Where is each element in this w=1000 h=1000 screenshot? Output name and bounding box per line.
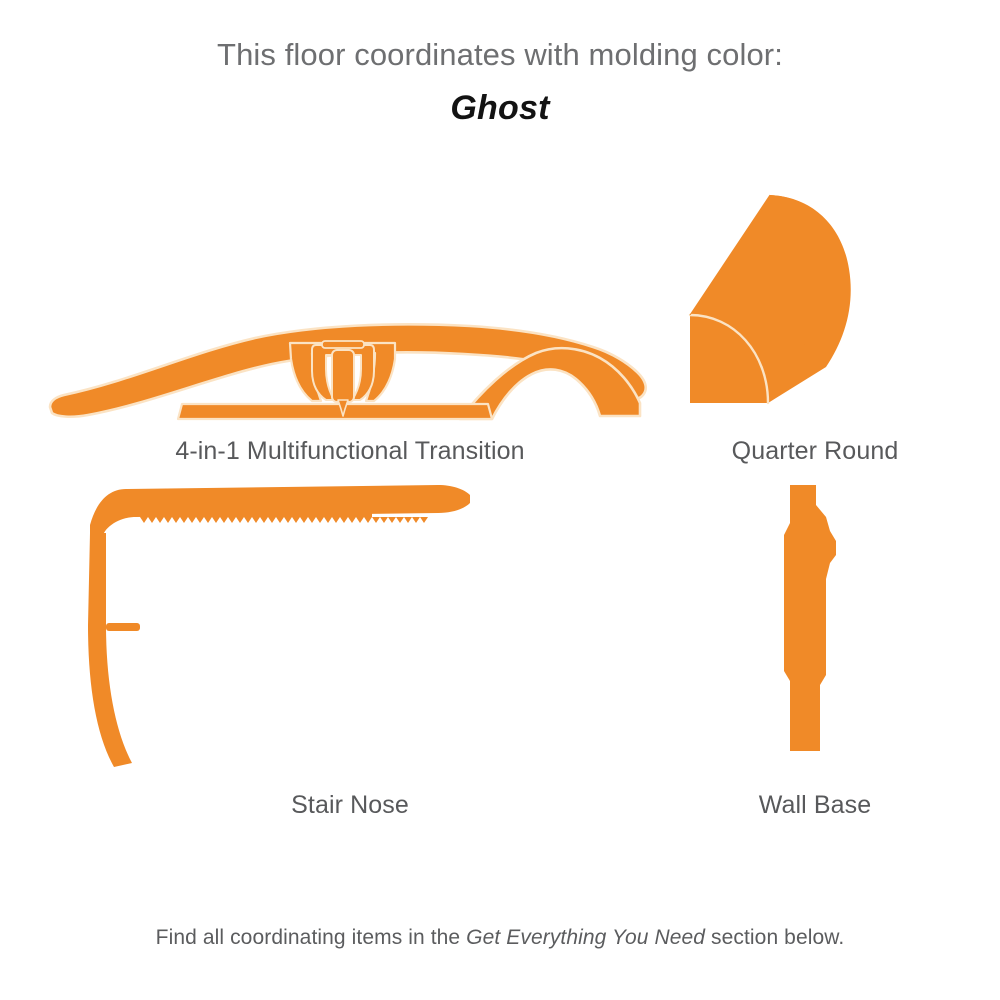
- molding-item-four-in-one-transition: 4-in-1 Multifunctional Transition: [40, 195, 660, 466]
- molding-color-name: Ghost: [0, 89, 1000, 128]
- header: This floor coordinates with molding colo…: [0, 36, 1000, 128]
- molding-coordination-panel: This floor coordinates with molding colo…: [0, 0, 1000, 1000]
- wall-base-profile-icon: [650, 475, 980, 765]
- footer-text-before: Find all coordinating items in the: [156, 926, 467, 949]
- footer-text-after: section below.: [705, 926, 844, 949]
- molding-item-label: Wall Base: [650, 791, 980, 820]
- molding-item-quarter-round: Quarter Round: [650, 175, 980, 466]
- footer-note: Find all coordinating items in the Get E…: [0, 926, 1000, 950]
- stair-nose-profile-icon: [40, 475, 660, 765]
- molding-item-wall-base: Wall Base: [650, 475, 980, 820]
- molding-item-label: Quarter Round: [650, 437, 980, 466]
- molding-item-stair-nose: Stair Nose: [40, 475, 660, 820]
- molding-item-label: Stair Nose: [40, 791, 660, 820]
- quarter-round-profile-icon: [650, 175, 980, 425]
- footer-emphasis: Get Everything You Need: [466, 926, 705, 949]
- four-in-one-transition-profile-icon: [40, 195, 660, 425]
- page-title: This floor coordinates with molding colo…: [0, 36, 1000, 75]
- molding-items-grid: 4-in-1 Multifunctional Transition: [0, 175, 1000, 875]
- molding-item-label: 4-in-1 Multifunctional Transition: [40, 437, 660, 466]
